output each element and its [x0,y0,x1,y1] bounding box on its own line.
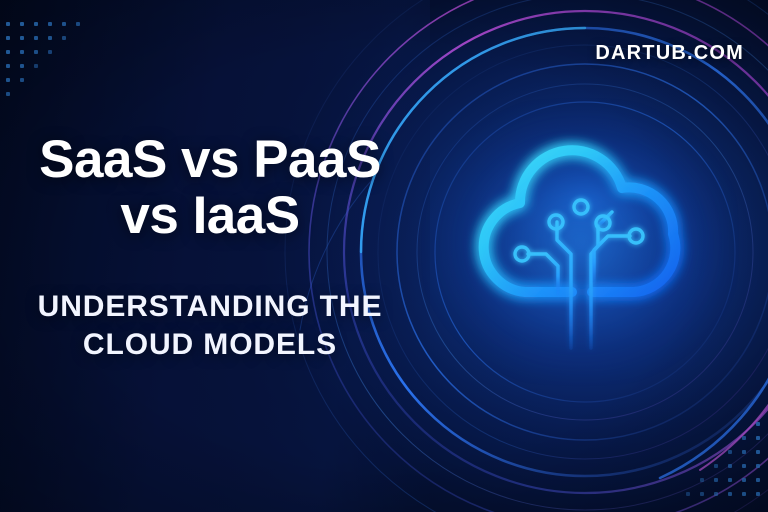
subtitle-line-2: CLOUD MODELS [0,326,420,364]
subtitle-line-1: UNDERSTANDING THE [0,288,420,326]
background-left-wash [0,0,430,512]
title-line-1: SaaS vs PaaS [0,132,420,188]
page-title: SaaS vs PaaS vs IaaS [0,132,420,244]
page-subtitle: UNDERSTANDING THE CLOUD MODELS [0,288,420,365]
poster-canvas: DARTUB.COM SaaS vs PaaS vs IaaS UNDERSTA… [0,0,768,512]
cloud-graphic [440,122,720,382]
site-watermark: DARTUB.COM [595,42,744,65]
title-line-2: vs IaaS [0,188,420,244]
cloud-glow [430,107,730,377]
